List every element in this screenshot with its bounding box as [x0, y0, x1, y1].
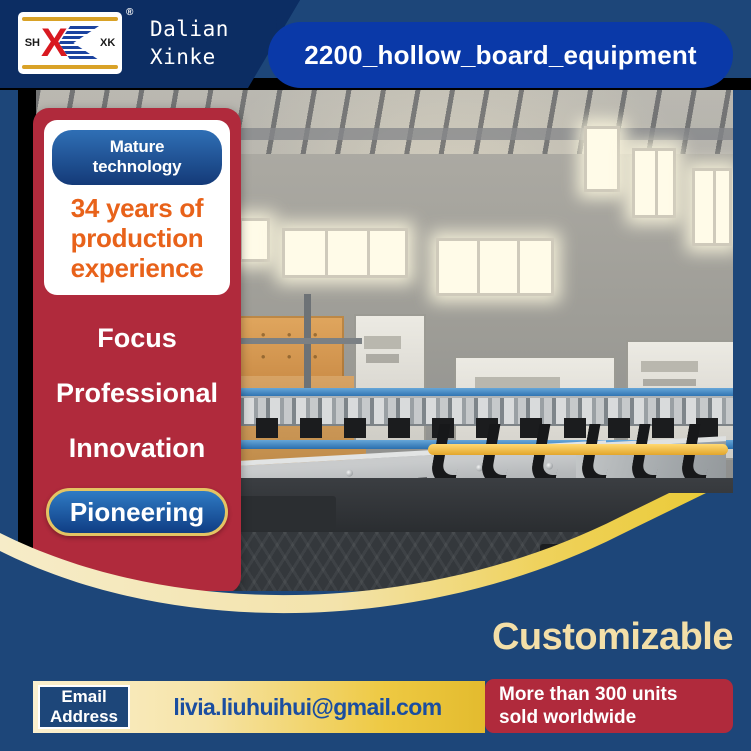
experience-line-3: experience	[52, 253, 222, 283]
logo-xk-mark: X	[41, 23, 99, 63]
logo-bottom-bar	[22, 65, 118, 69]
company-name-line2: Xinke	[150, 43, 229, 71]
email-address-bar: Email Address livia.liuhuihui@gmail.com	[33, 681, 485, 733]
slogan-list: Focus Professional Innovation	[56, 311, 218, 476]
slogan-item-focus: Focus	[56, 311, 218, 366]
experience-card: Mature technology 34 years of production…	[44, 120, 230, 295]
units-sold-line2: sold worldwide	[499, 706, 733, 729]
company-logo: SH X XK	[18, 12, 122, 74]
customizable-label: Customizable	[492, 616, 733, 659]
logo-text-sh: SH	[25, 38, 40, 49]
slogan-item-professional: Professional	[56, 366, 218, 421]
units-sold-line1: More than 300 units	[499, 683, 733, 706]
experience-line-1: 34 years of	[52, 193, 222, 223]
registered-trademark-icon: ®	[126, 8, 133, 18]
email-label-line1: Email	[61, 687, 106, 707]
highlights-panel: Mature technology 34 years of production…	[33, 108, 241, 593]
email-address-label: Email Address	[38, 685, 130, 729]
units-sold-badge: More than 300 units sold worldwide	[485, 679, 733, 733]
slogan-item-innovation: Innovation	[56, 421, 218, 476]
product-poster: SH X XK ® Dalian Xinke 2200_hollow_board…	[0, 0, 751, 751]
logo-text-xk: XK	[100, 38, 115, 49]
email-label-line2: Address	[50, 707, 118, 727]
company-name: Dalian Xinke	[150, 15, 229, 71]
experience-line-2: production	[52, 223, 222, 253]
product-title-badge: 2200_hollow_board_equipment	[268, 22, 733, 88]
email-address-value[interactable]: livia.liuhuihui@gmail.com	[130, 694, 485, 721]
pioneering-badge: Pioneering	[46, 488, 228, 536]
mature-technology-badge: Mature technology	[52, 130, 222, 185]
company-name-line1: Dalian	[150, 15, 229, 43]
experience-text: 34 years of production experience	[52, 193, 222, 283]
